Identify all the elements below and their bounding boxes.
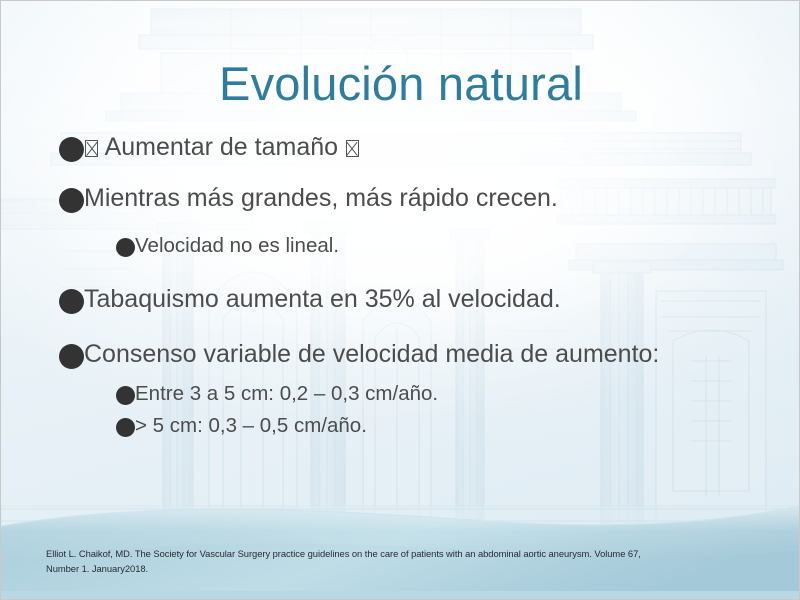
citation-footnote: Elliot L. Chaikof, MD. The Society for V… bbox=[46, 546, 736, 576]
slide-body: Aumentar de tamaño Mientras más grandes,… bbox=[1, 133, 800, 445]
bullet-marker-icon bbox=[59, 188, 84, 213]
bullet-text: Aumentar de tamaño bbox=[84, 133, 360, 163]
sub-bullet-marker-icon bbox=[116, 386, 135, 405]
sub-bullet-marker-icon bbox=[116, 238, 135, 257]
bullet-text-segment: Aumentar de tamaño bbox=[99, 133, 345, 161]
bullet-text: Consenso variable de velocidad media de … bbox=[84, 340, 659, 370]
sub-bullet-text: > 5 cm: 0,3 – 0,5 cm/año. bbox=[135, 414, 367, 439]
bullet-marker-icon bbox=[59, 137, 84, 162]
sub-bullet-item: > 5 cm: 0,3 – 0,5 cm/año. bbox=[1, 414, 800, 439]
footer-bottom-strip bbox=[1, 591, 800, 599]
citation-line-2: Number 1. January2018. bbox=[46, 561, 736, 576]
sub-bullet-marker-icon bbox=[116, 418, 135, 437]
bullet-marker-icon bbox=[59, 289, 84, 314]
sub-bullet-text: Velocidad no es lineal. bbox=[135, 234, 339, 259]
slide-title: Evolución natural bbox=[1, 59, 800, 108]
citation-line-1: Elliot L. Chaikof, MD. The Society for V… bbox=[46, 546, 736, 561]
bullet-text: Mientras más grandes, más rápido crecen. bbox=[84, 184, 558, 214]
bullet-text: Tabaquismo aumenta en 35% al velocidad. bbox=[84, 285, 561, 315]
bullet-item: Mientras más grandes, más rápido crecen. bbox=[1, 184, 800, 214]
missing-glyph-box-icon bbox=[346, 140, 359, 157]
presentation-slide: Evolución natural Aumentar de tamaño Mie… bbox=[0, 0, 800, 600]
missing-glyph-box-icon bbox=[85, 140, 98, 157]
bullet-item: Consenso variable de velocidad media de … bbox=[1, 340, 800, 370]
bullet-item: Aumentar de tamaño bbox=[1, 133, 800, 163]
bullet-marker-icon bbox=[59, 344, 84, 369]
sub-bullet-item: Entre 3 a 5 cm: 0,2 – 0,3 cm/año. bbox=[1, 382, 800, 407]
sub-bullet-item: Velocidad no es lineal. bbox=[1, 234, 800, 259]
sub-bullet-text: Entre 3 a 5 cm: 0,2 – 0,3 cm/año. bbox=[135, 382, 438, 407]
bullet-item: Tabaquismo aumenta en 35% al velocidad. bbox=[1, 285, 800, 315]
